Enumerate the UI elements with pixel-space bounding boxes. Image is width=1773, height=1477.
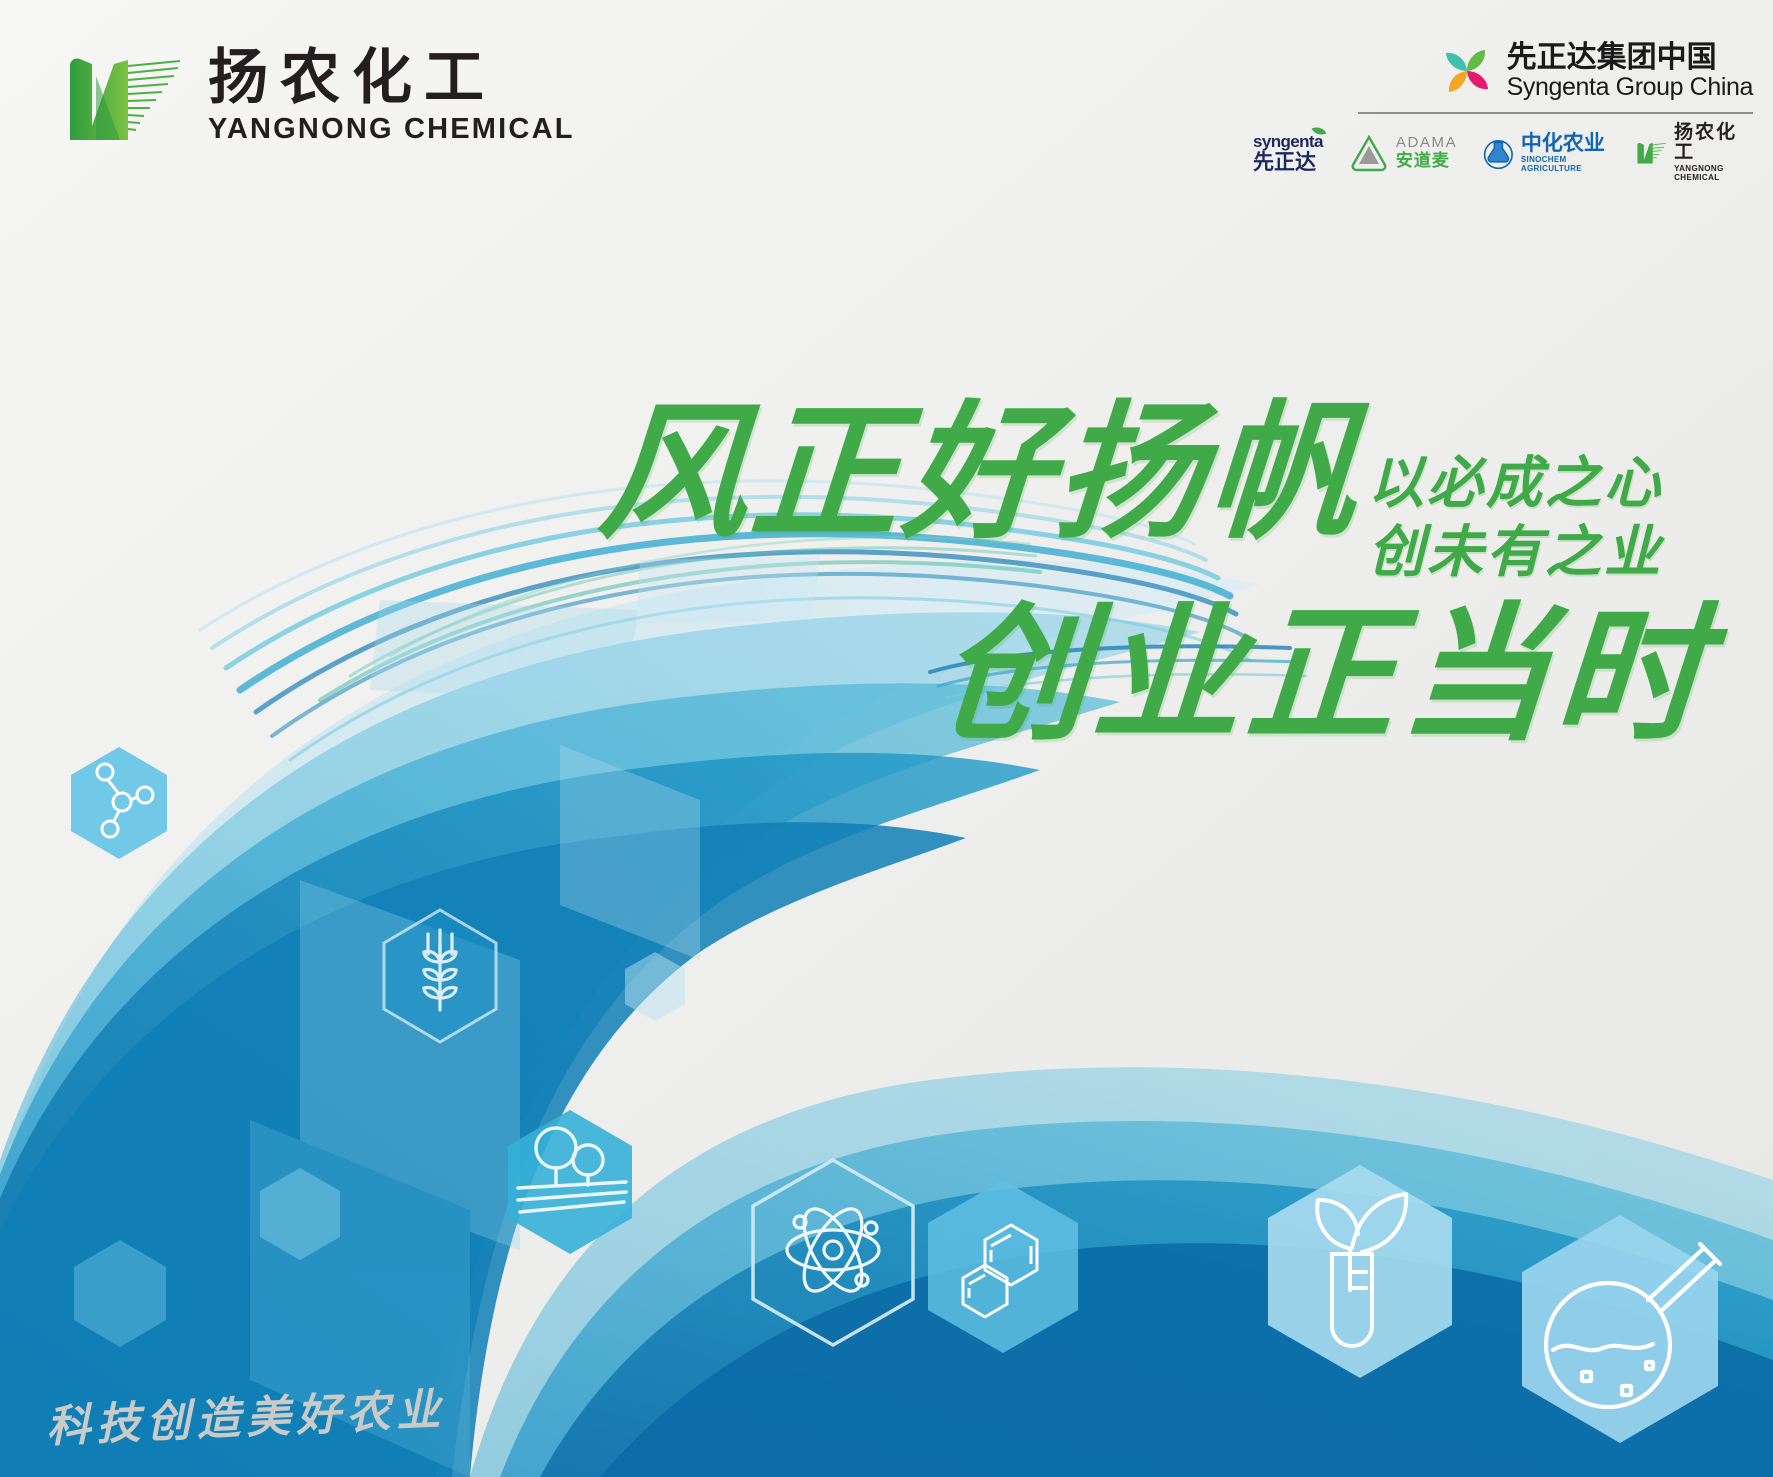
sinochem-flask-icon (1483, 133, 1514, 173)
trees-field-icon (508, 1110, 632, 1254)
partner-adama-cn: 安道麦 (1396, 152, 1457, 171)
syngenta-flower-icon (1441, 45, 1493, 97)
syngenta-group-header: 先正达集团中国 Syngenta Group China syngenta 先正… (1253, 42, 1753, 176)
adama-triangle-icon (1349, 133, 1389, 173)
benzene-icon (928, 1180, 1078, 1353)
flask-icon (1522, 1215, 1720, 1443)
syngenta-group-logo: 先正达集团中国 Syngenta Group China (1441, 42, 1753, 100)
decor-hex-group (74, 952, 685, 1347)
partner-sinochem-en: SINOCHEM AGRICULTURE (1521, 156, 1609, 173)
partner-logo-yangnong: 扬农化工 YANGNONG CHEMICAL (1635, 130, 1753, 176)
poster-canvas: 扬农化工 YANGNONG CHEMICAL 先正达集团中国 Syngenta … (0, 0, 1773, 1477)
headline-line-2: 创业正当时 (935, 600, 1715, 748)
subline-2: 创未有之业 (1368, 521, 1663, 584)
partner-yangnong-en: YANGNONG CHEMICAL (1674, 165, 1753, 182)
partner-sinochem-cn: 中化农业 (1521, 132, 1609, 154)
brand-name-cn: 扬农化工 (208, 48, 575, 108)
sprout-tube-icon (1268, 1165, 1452, 1378)
molecule-icon (71, 747, 167, 859)
partner-logo-row: syngenta 先正达 ADAMA 安道麦 (1253, 130, 1753, 176)
wheat-icon (384, 910, 496, 1042)
partner-logo-adama: ADAMA 安道麦 (1349, 130, 1457, 176)
partner-syngenta-en: syngenta (1253, 133, 1323, 150)
footer-slogan: 科技创造美好农业 (45, 1373, 447, 1454)
syngenta-name-en: Syngenta Group China (1507, 74, 1753, 100)
syngenta-name-cn: 先正达集团中国 (1507, 42, 1753, 74)
headline-subtext: 以必成之心 创未有之业 (1368, 452, 1663, 583)
partner-syngenta-cn: 先正达 (1253, 152, 1323, 173)
yangnong-n-mark-icon (1635, 138, 1667, 168)
yangnong-brand-logo: 扬农化工 YANGNONG CHEMICAL (62, 48, 575, 144)
atom-icon (753, 1160, 913, 1345)
headline-line-1: 风正好扬帆 (595, 398, 1365, 546)
yangnong-n-mark-icon (62, 52, 190, 144)
partner-adama-en: ADAMA (1396, 135, 1457, 152)
subline-1: 以必成之心 (1368, 452, 1663, 515)
partner-logo-syngenta: syngenta 先正达 (1253, 130, 1323, 176)
brand-name-en: YANGNONG CHEMICAL (208, 115, 575, 144)
header-divider (1358, 112, 1753, 114)
partner-logo-sinochem: 中化农业 SINOCHEM AGRICULTURE (1483, 130, 1609, 176)
partner-yangnong-cn: 扬农化工 (1674, 123, 1753, 163)
